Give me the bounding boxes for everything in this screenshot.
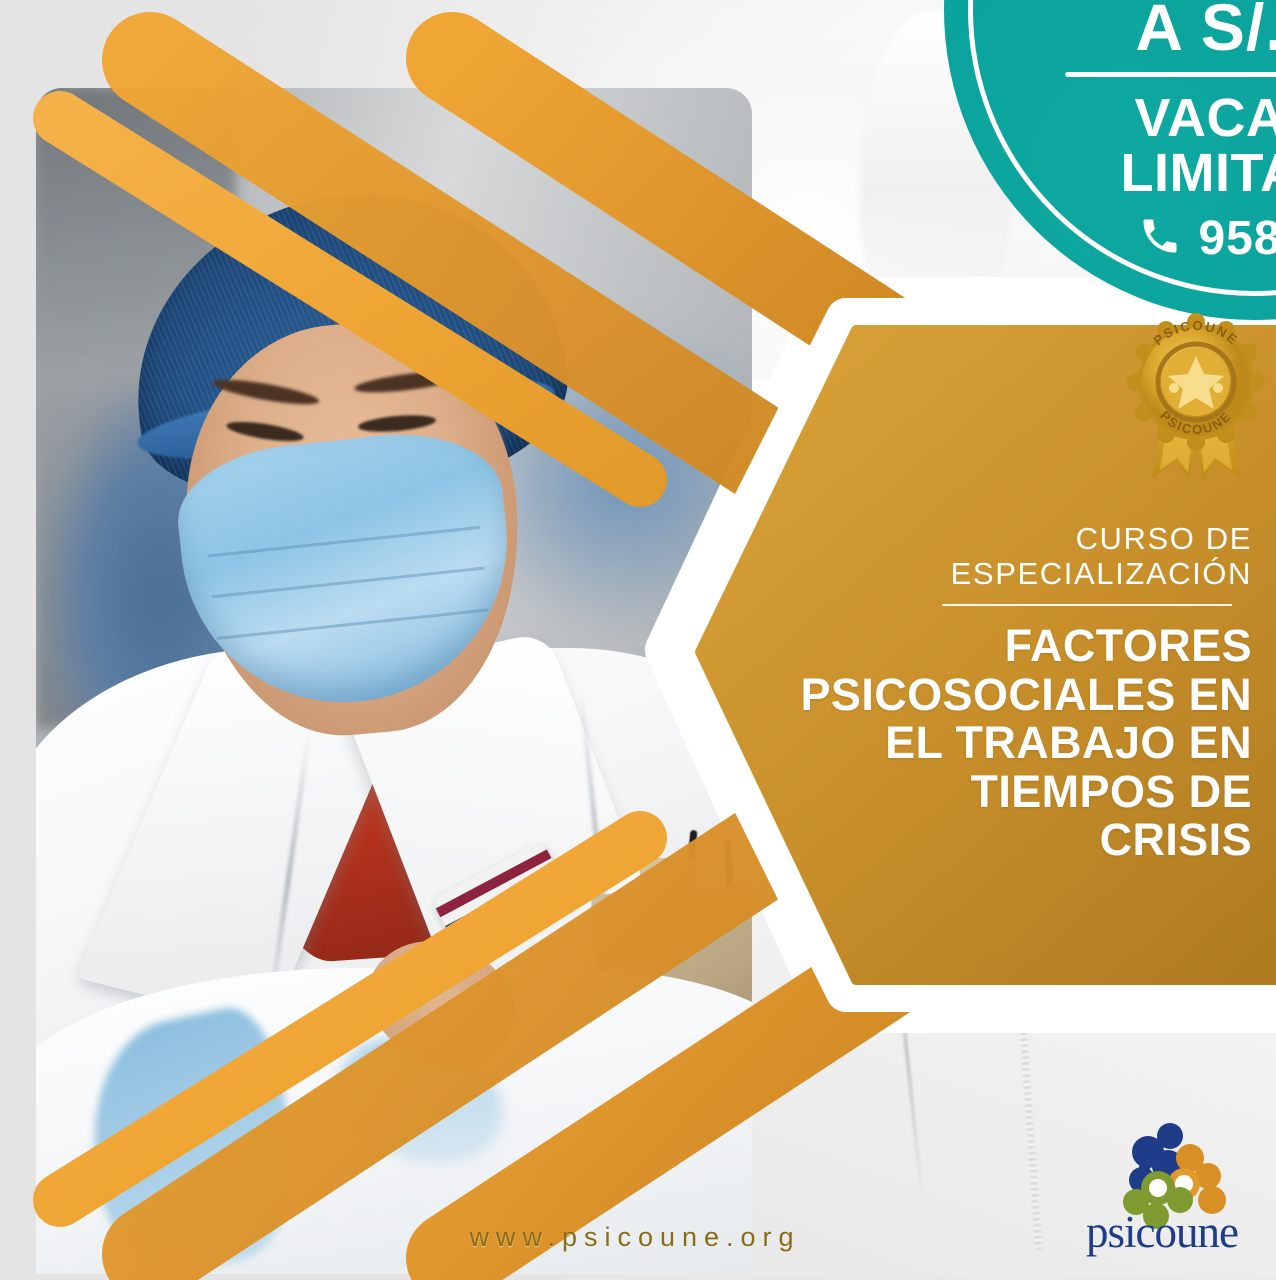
title-line-3: EL TRABAJO EN bbox=[576, 719, 1252, 768]
phone-number: 958 bbox=[1198, 211, 1276, 266]
badge-divider bbox=[1065, 72, 1276, 77]
vacancies-line-1: VACA bbox=[1000, 91, 1276, 146]
title-line-4: TIEMPOS DE bbox=[576, 768, 1252, 817]
logo-wordmark: psicoune bbox=[1086, 1206, 1272, 1258]
price-label: A S/. bbox=[1000, 0, 1276, 60]
kicker-line-1: CURSO DE bbox=[880, 522, 1252, 557]
course-kicker: CURSO DE ESPECIALIZACIÓN bbox=[880, 522, 1252, 591]
promotional-flyer: A S/. VACA LIMITA 958 bbox=[0, 0, 1276, 1280]
phone-icon bbox=[1138, 214, 1182, 263]
website-url: www.psicoune.org bbox=[400, 1222, 870, 1253]
vacancies-line-2: LIMITA bbox=[1000, 146, 1276, 201]
title-line-1: FACTORES bbox=[576, 622, 1252, 671]
price-badge-content: A S/. VACA LIMITA 958 bbox=[1000, 0, 1276, 266]
title-line-5: CRISIS bbox=[576, 816, 1252, 865]
course-title: FACTORES PSICOSOCIALES EN EL TRABAJO EN … bbox=[576, 622, 1252, 865]
kicker-line-2: ESPECIALIZACIÓN bbox=[880, 557, 1252, 592]
award-ribbon-icon: PSICOUNE PSICOUNE bbox=[1116, 300, 1276, 490]
phone-row: 958 bbox=[1000, 211, 1276, 266]
kicker-divider bbox=[942, 604, 1232, 606]
title-line-2: PSICOSOCIALES EN bbox=[576, 671, 1252, 720]
